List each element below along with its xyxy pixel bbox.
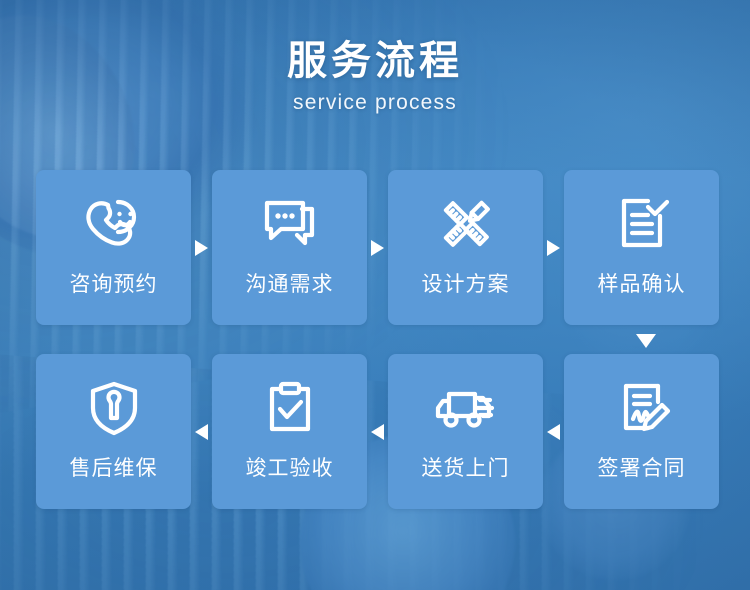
phone-smiley-icon — [78, 178, 150, 270]
process-card-label: 竣工验收 — [246, 456, 334, 482]
page-title: 服务流程 — [0, 38, 750, 84]
process-card-label: 咨询预约 — [70, 272, 158, 298]
process-row-1: 咨询预约 沟通需求 — [36, 170, 720, 325]
shield-wrench-icon — [78, 362, 150, 454]
pencil-ruler-icon — [430, 178, 502, 270]
process-card-design[interactable]: 设计方案 — [388, 170, 543, 325]
service-process-banner: 服务流程 service process 咨询预约 — [0, 0, 750, 590]
process-card-aftersales[interactable]: 售后维保 — [36, 354, 191, 509]
delivery-truck-icon — [429, 362, 503, 454]
process-row-2: 售后维保 竣工验收 — [36, 354, 720, 509]
process-card-consult[interactable]: 咨询预约 — [36, 170, 191, 325]
connector-arrow-right-3 — [543, 170, 564, 325]
process-card-label: 售后维保 — [70, 456, 158, 482]
connector-arrow-left-3 — [543, 354, 564, 509]
process-card-label: 设计方案 — [422, 272, 510, 298]
clipboard-check-icon — [254, 362, 326, 454]
connector-arrow-down — [634, 332, 658, 350]
process-card-sign-contract[interactable]: 签署合同 — [564, 354, 719, 509]
connector-arrow-right-2 — [367, 170, 388, 325]
contract-pen-icon — [606, 362, 678, 454]
banner-header: 服务流程 service process — [0, 38, 750, 118]
process-card-label: 样品确认 — [598, 272, 686, 298]
process-grid: 咨询预约 沟通需求 — [36, 170, 720, 509]
process-card-communicate[interactable]: 沟通需求 — [212, 170, 367, 325]
process-card-label: 签署合同 — [598, 456, 686, 482]
process-card-acceptance[interactable]: 竣工验收 — [212, 354, 367, 509]
connector-arrow-left-2 — [367, 354, 388, 509]
connector-arrow-right-1 — [191, 170, 212, 325]
document-check-icon — [606, 178, 678, 270]
page-subtitle: service process — [0, 88, 750, 118]
process-card-label: 沟通需求 — [246, 272, 334, 298]
process-card-label: 送货上门 — [422, 456, 510, 482]
process-card-sample-confirm[interactable]: 样品确认 — [564, 170, 719, 325]
process-card-delivery[interactable]: 送货上门 — [388, 354, 543, 509]
chat-bubbles-icon — [254, 178, 326, 270]
connector-arrow-left-1 — [191, 354, 212, 509]
